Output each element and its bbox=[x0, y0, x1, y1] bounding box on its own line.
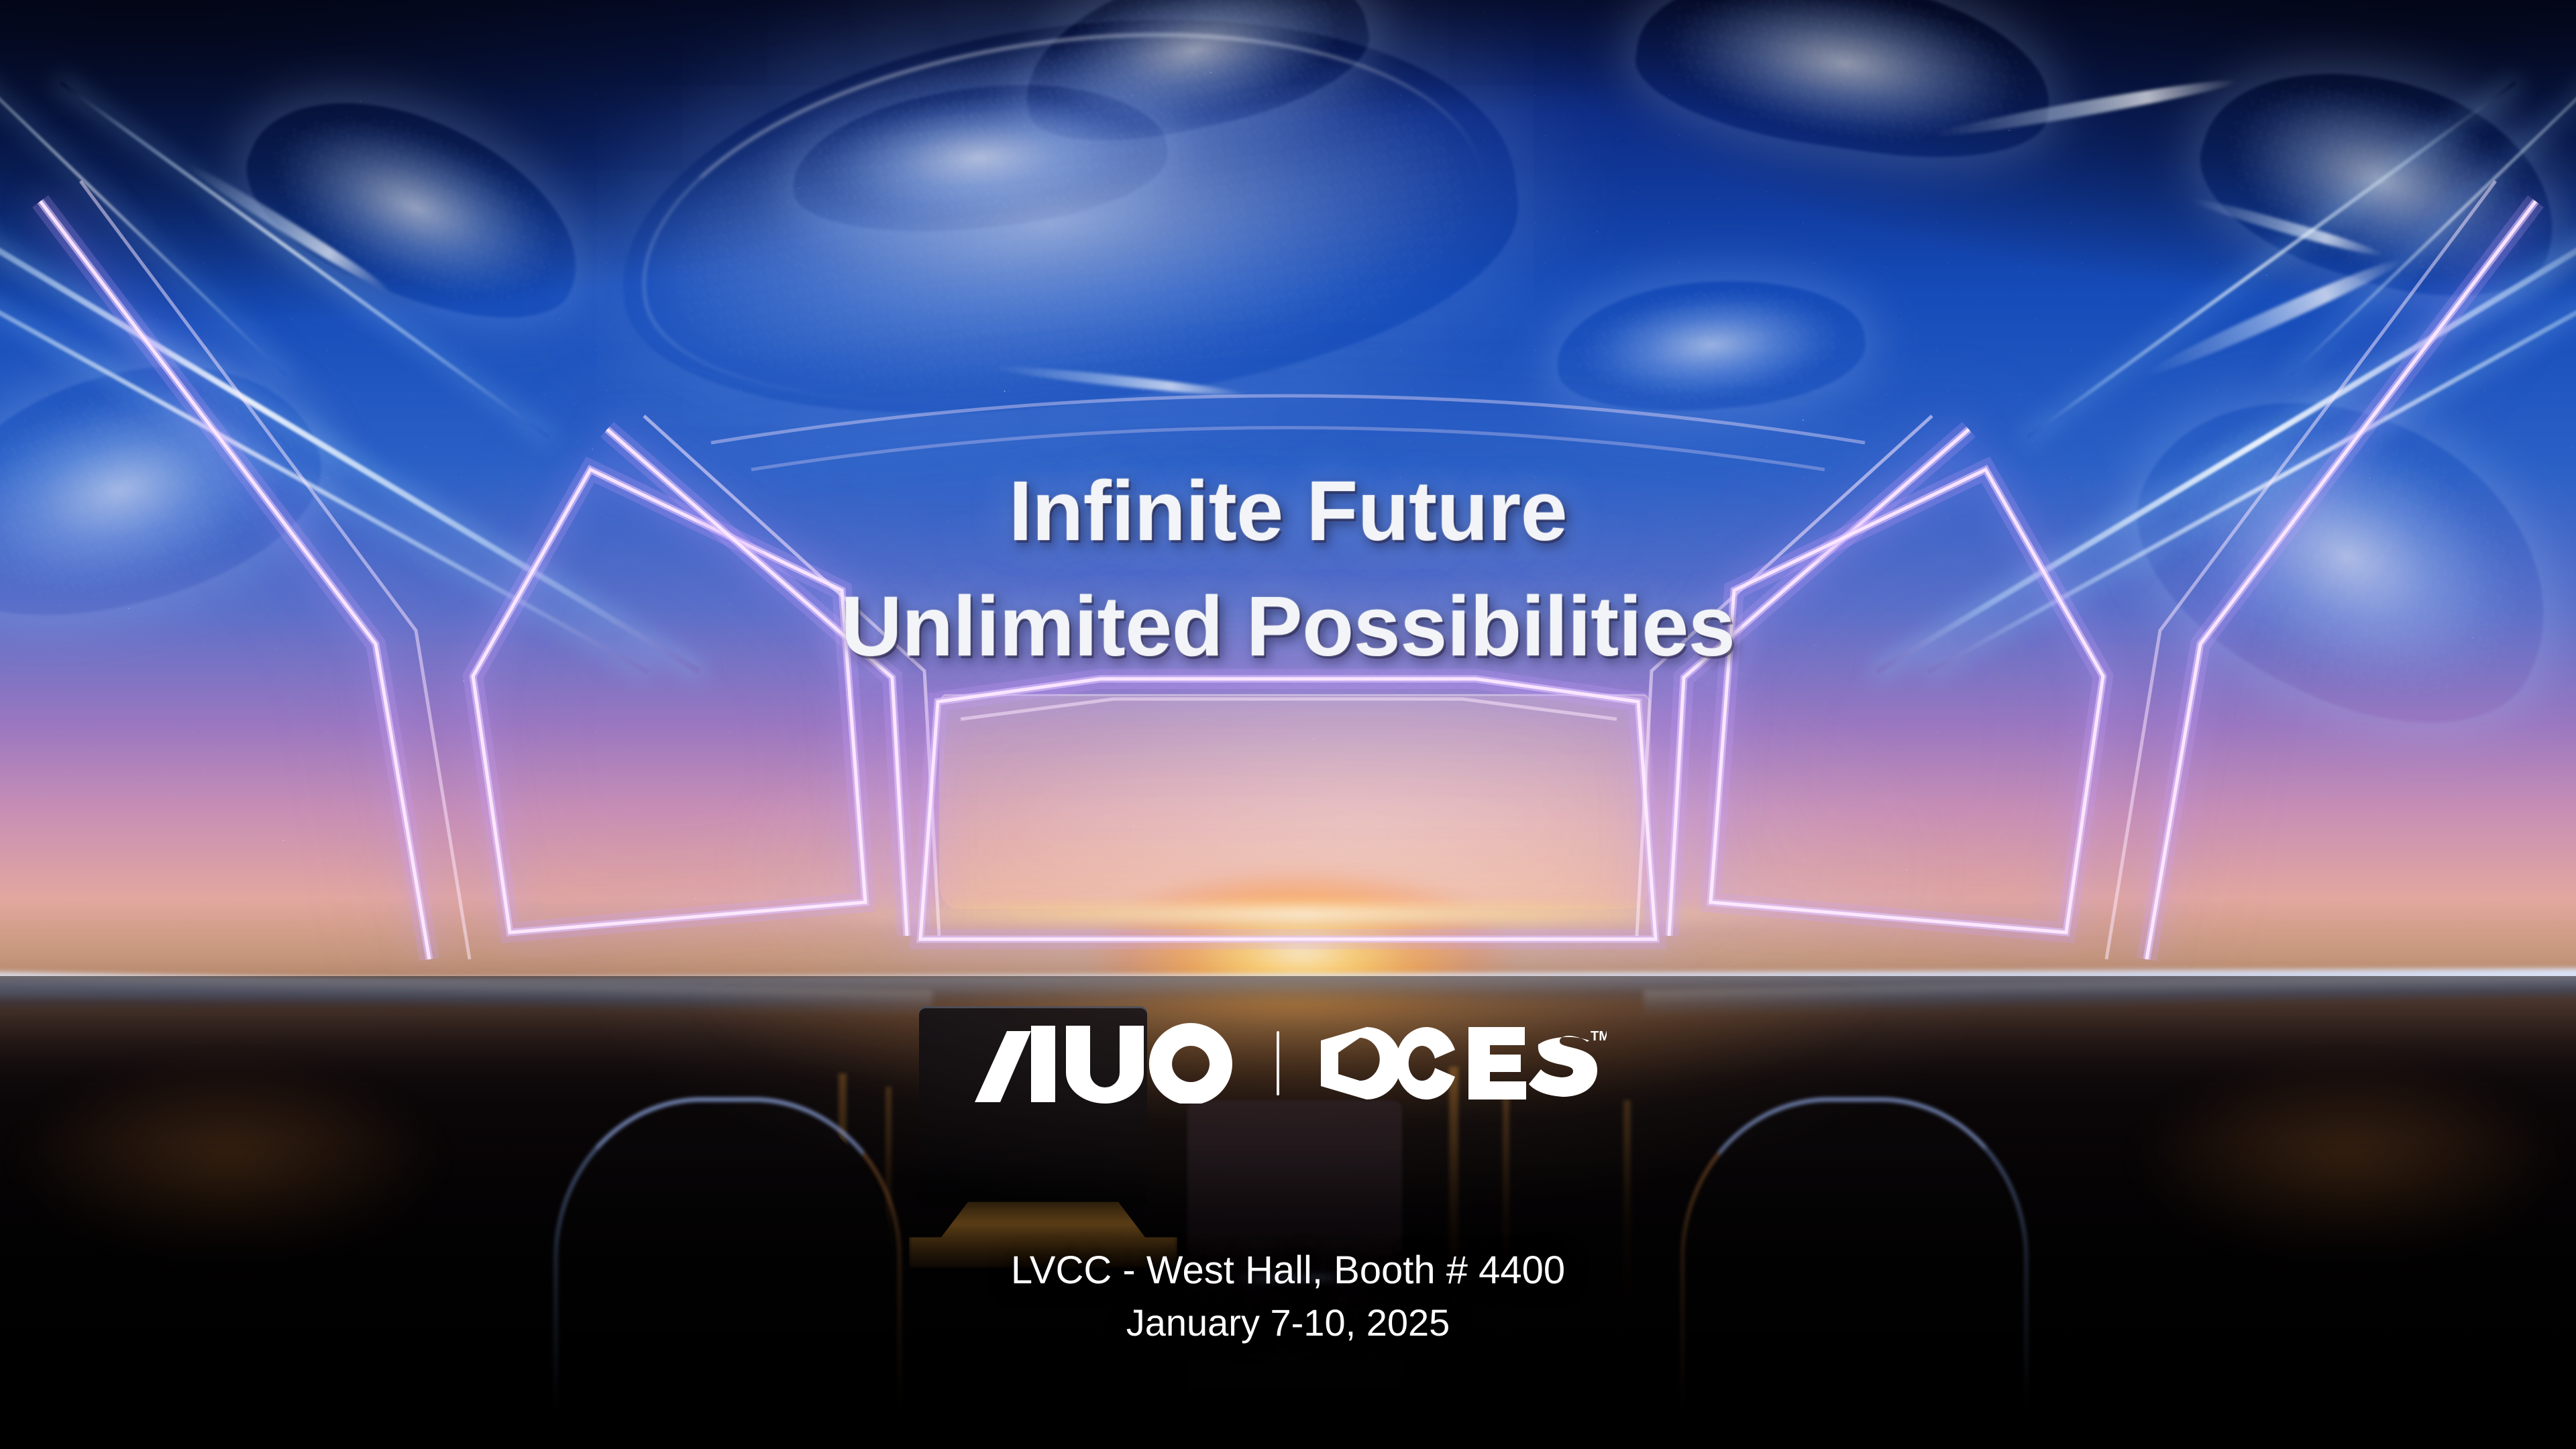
headline-line-1: Infinite Future bbox=[0, 463, 2576, 559]
key-visual-poster: Infinite Future Unlimited Possibilities … bbox=[0, 0, 2576, 1449]
event-date: January 7-10, 2025 bbox=[0, 1297, 2576, 1348]
event-info-block: LVCC - West Hall, Booth # 4400 January 7… bbox=[0, 1244, 2576, 1348]
headline-line-2: Unlimited Possibilities bbox=[0, 578, 2576, 675]
logo-lockup: AUO CES bbox=[0, 1023, 2576, 1104]
auo-logo: AUO bbox=[969, 1023, 1238, 1104]
headline-block: Infinite Future Unlimited Possibilities bbox=[0, 463, 2576, 674]
event-venue: LVCC - West Hall, Booth # 4400 bbox=[0, 1244, 2576, 1297]
ces-trademark-icon: TM bbox=[1591, 1029, 1607, 1044]
ces-logo: CES TM bbox=[1318, 1023, 1607, 1104]
logo-divider bbox=[1277, 1031, 1279, 1095]
